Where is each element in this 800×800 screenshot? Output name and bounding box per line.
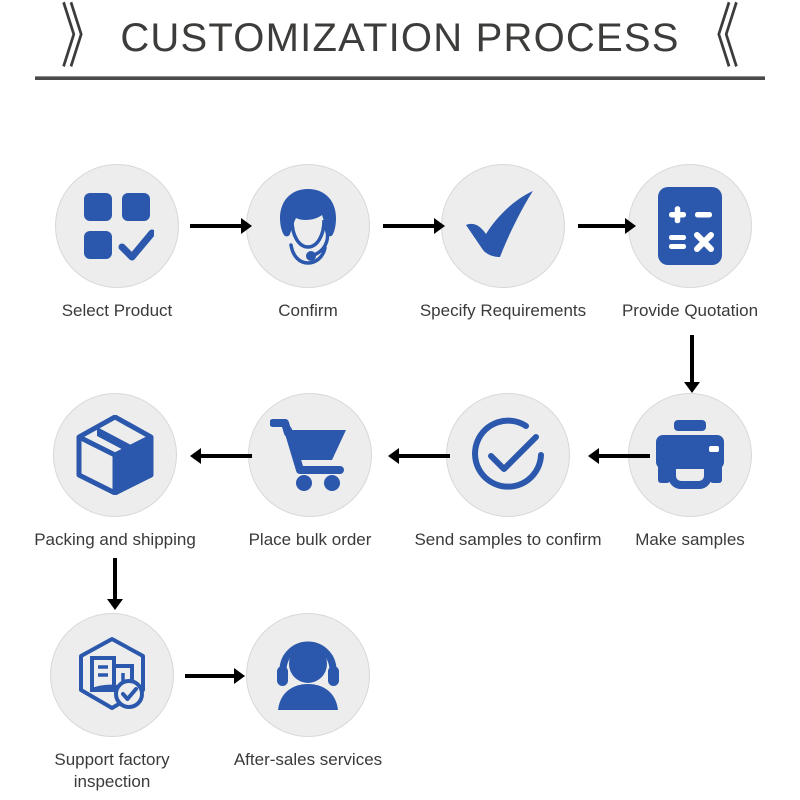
step-icon-circle: [55, 164, 179, 288]
process-step-2[interactable]: Confirm: [213, 164, 403, 322]
title-divider: [35, 76, 765, 80]
step-icon-circle: [248, 393, 372, 517]
step-icon-circle: [246, 164, 370, 288]
process-step-9[interactable]: Support factory inspection: [17, 613, 207, 793]
chevron-left-double-icon: 《: [692, 3, 739, 73]
headset-person-icon: [268, 638, 348, 712]
package-box-icon: [75, 415, 155, 495]
arrow-bulkorder-to-packing: [190, 448, 252, 464]
step-label: Make samples: [595, 529, 785, 551]
step-label: Specify Requirements: [408, 300, 598, 322]
step-icon-circle: [246, 613, 370, 737]
process-step-10[interactable]: After-sales services: [213, 613, 403, 771]
process-step-6[interactable]: Send samples to confirm: [413, 393, 603, 551]
step-label: Send samples to confirm: [413, 529, 603, 551]
step-label: After-sales services: [213, 749, 403, 771]
process-step-5[interactable]: Make samples: [595, 393, 785, 551]
process-step-1[interactable]: Select Product: [22, 164, 212, 322]
checkmark-icon: [463, 191, 543, 261]
grid-check-icon: [80, 189, 154, 263]
process-step-8[interactable]: Packing and shipping: [20, 393, 210, 551]
process-step-4[interactable]: Provide Quotation: [595, 164, 785, 322]
factory-inspection-icon: [73, 636, 151, 714]
arrow-inspection-to-aftersales: [185, 668, 245, 684]
step-icon-circle: [441, 164, 565, 288]
process-step-7[interactable]: Place bulk order: [215, 393, 405, 551]
page-title: CUSTOMIZATION PROCESS: [120, 16, 679, 61]
support-agent-icon: [270, 187, 346, 265]
step-icon-circle: [53, 393, 177, 517]
arrow-packing-to-inspection: [107, 558, 123, 610]
arrow-send-to-bulkorder: [388, 448, 450, 464]
shopping-cart-icon: [270, 418, 350, 492]
arrow-confirm-to-specify: [383, 218, 445, 234]
step-label: Confirm: [213, 300, 403, 322]
step-icon-circle: [628, 164, 752, 288]
calculator-icon: [657, 186, 723, 266]
step-label: Packing and shipping: [20, 529, 210, 551]
step-label: Select Product: [22, 300, 212, 322]
printer-icon: [650, 419, 730, 491]
chevron-right-double-icon: 》: [61, 3, 108, 73]
step-label: Support factory inspection: [17, 749, 207, 793]
arrow-samples-to-send: [588, 448, 650, 464]
arrow-quotation-to-samples: [684, 335, 700, 393]
title-row: 》 CUSTOMIZATION PROCESS 《: [0, 8, 800, 68]
arrow-specify-to-quotation: [578, 218, 636, 234]
process-step-3[interactable]: Specify Requirements: [408, 164, 598, 322]
page-header: 》 CUSTOMIZATION PROCESS 《: [0, 0, 800, 92]
circle-check-icon: [469, 416, 547, 494]
step-icon-circle: [50, 613, 174, 737]
step-icon-circle: [446, 393, 570, 517]
arrow-select-to-confirm: [190, 218, 252, 234]
step-label: Place bulk order: [215, 529, 405, 551]
step-label: Provide Quotation: [595, 300, 785, 322]
